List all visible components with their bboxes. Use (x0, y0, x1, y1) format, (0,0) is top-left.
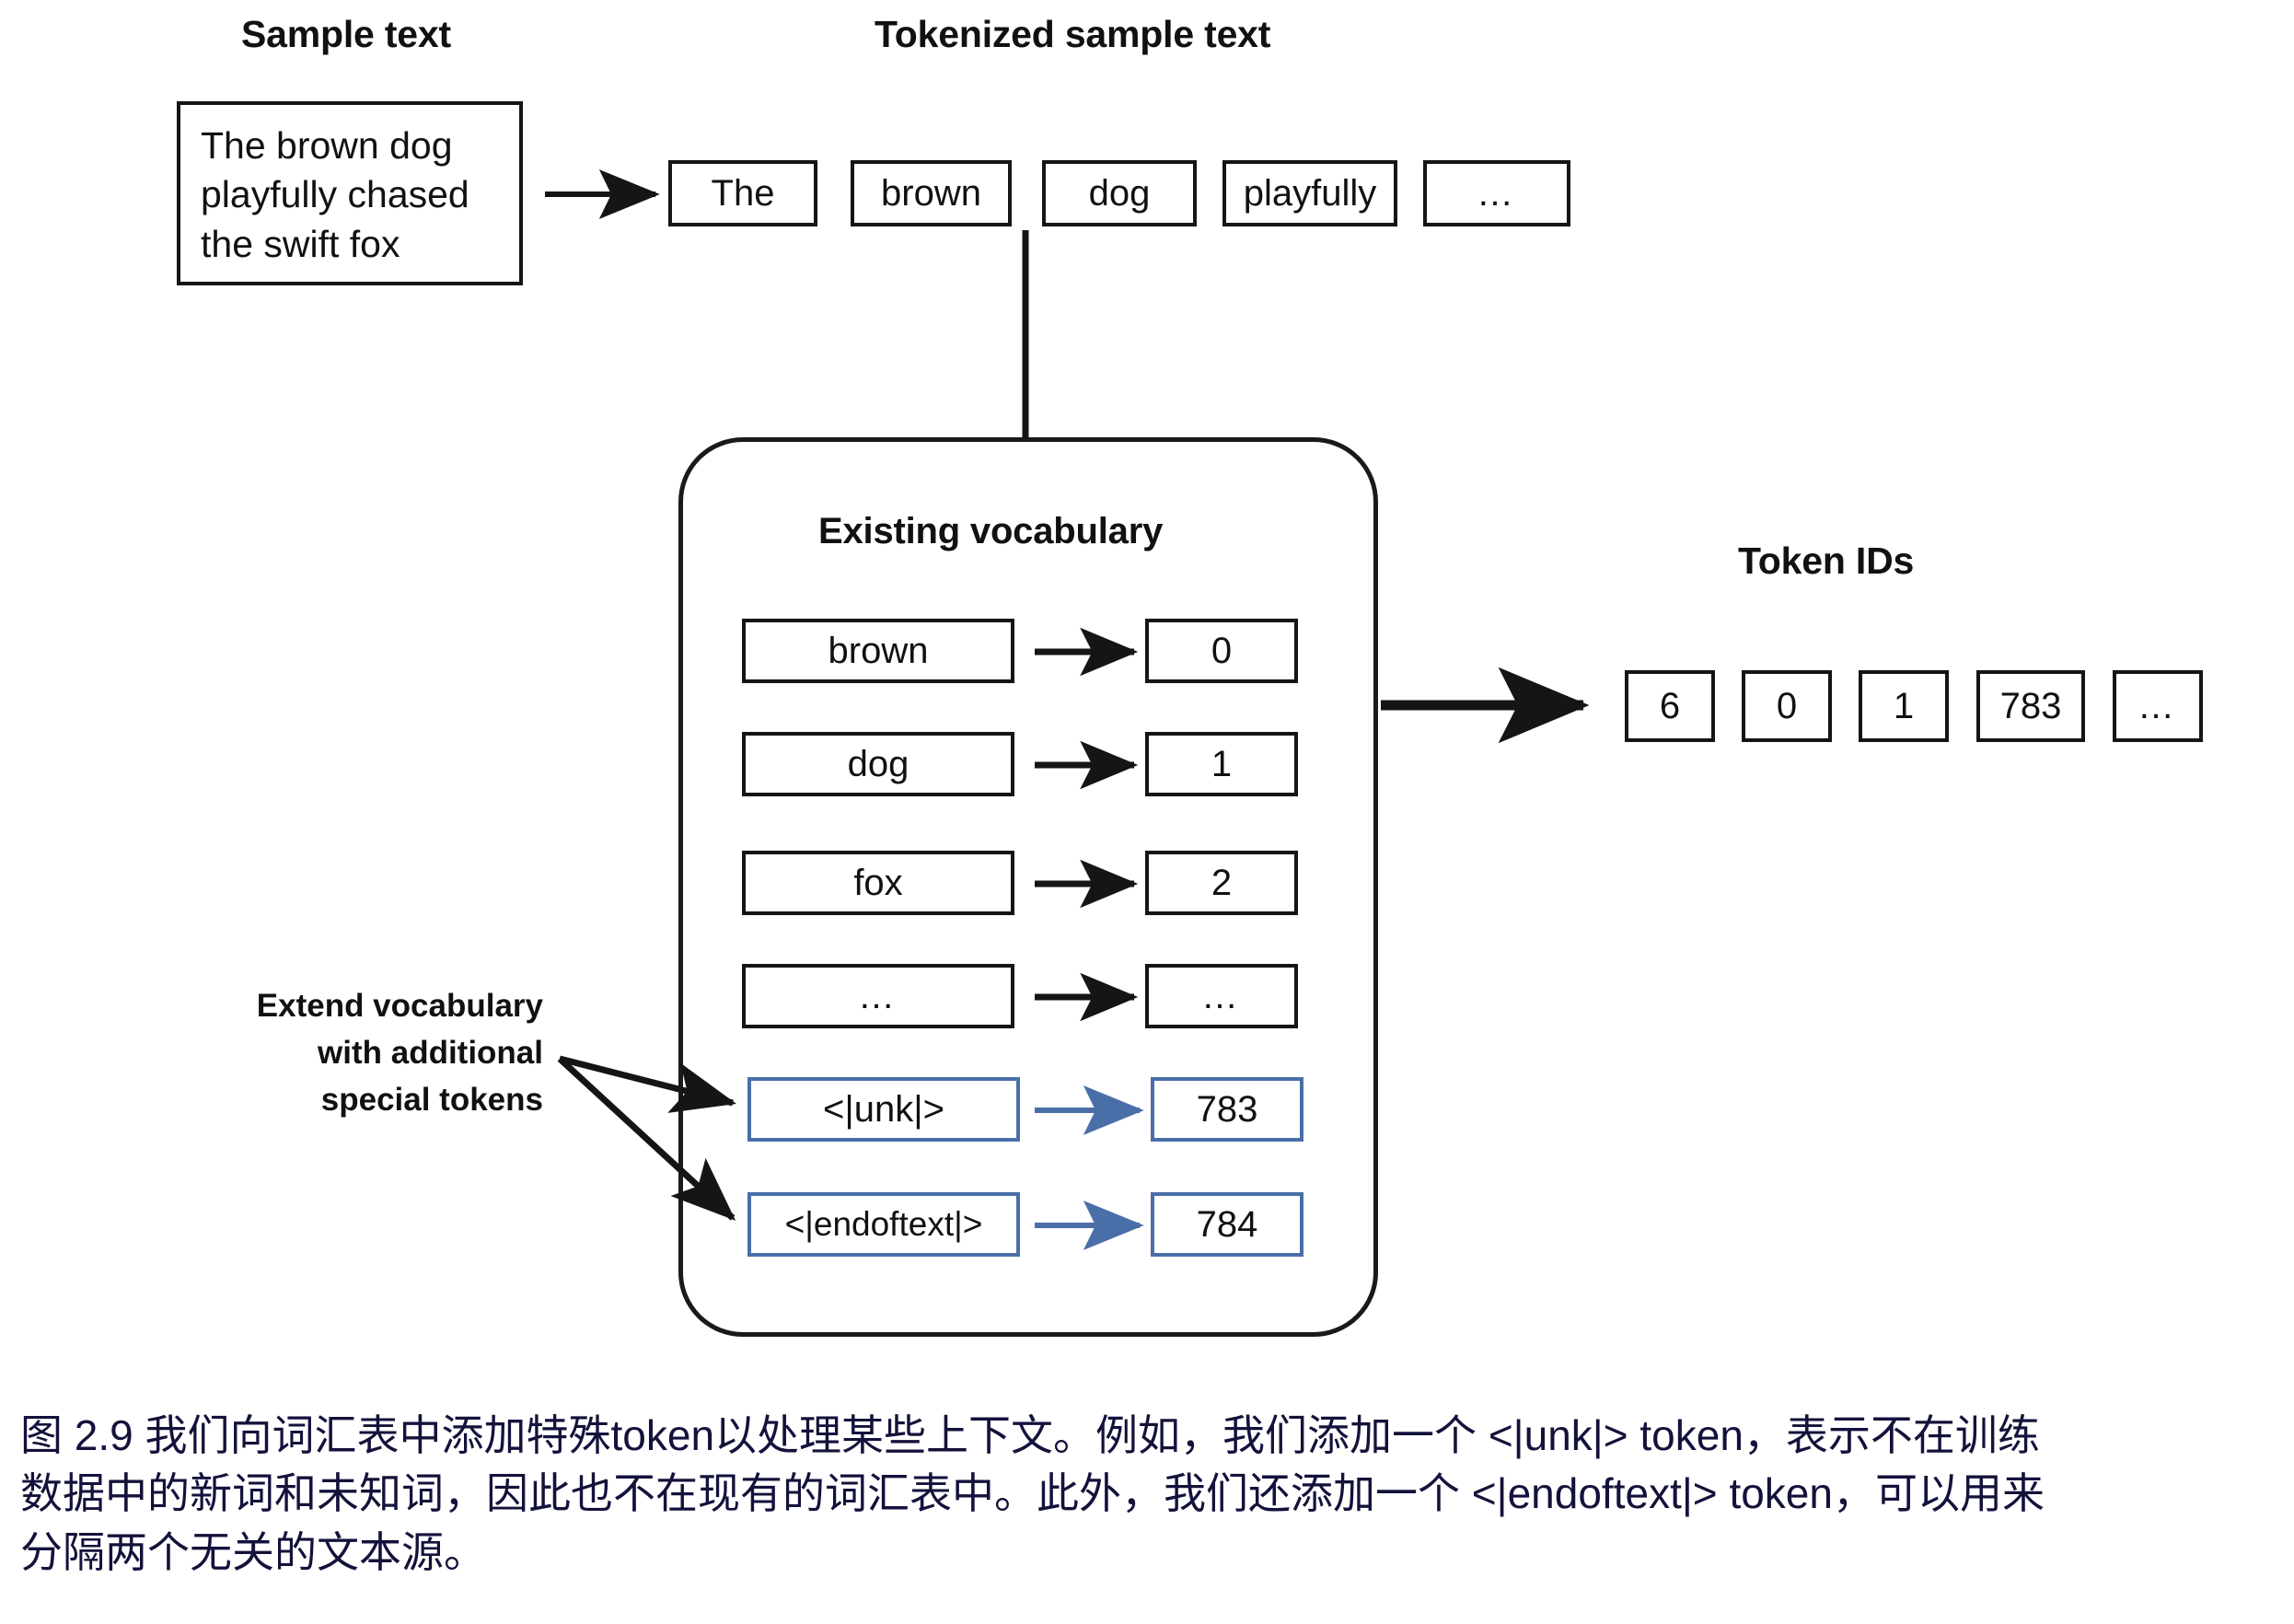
vocab-token-box-5-endoftext: <|endoftext|> (747, 1192, 1020, 1257)
annotation-extend-vocabulary: Extend vocabulary with additional specia… (221, 983, 543, 1123)
vocab-id-box-0: 0 (1145, 619, 1298, 683)
token-box-4: … (1423, 160, 1570, 226)
vocab-token-box-3: … (742, 964, 1014, 1028)
token-box-0: The (668, 160, 817, 226)
caption-line-3: 分隔两个无关的文本源。 (20, 1524, 2285, 1582)
token-id-box-4: … (2113, 670, 2203, 742)
vocab-token-box-1: dog (742, 732, 1014, 796)
vocab-id-box-5-endoftext: 784 (1151, 1192, 1303, 1257)
vocab-token-box-2: fox (742, 851, 1014, 915)
caption-line-2: 数据中的新词和未知词，因此也不在现有的词汇表中。此外，我们还添加一个 <|end… (20, 1465, 2285, 1523)
heading-sample-text: Sample text (241, 13, 451, 56)
heading-token-ids: Token IDs (1738, 539, 1914, 583)
vocab-id-box-1: 1 (1145, 732, 1298, 796)
vocab-id-box-3: … (1145, 964, 1298, 1028)
token-box-2: dog (1042, 160, 1197, 226)
token-box-3: playfully (1222, 160, 1397, 226)
heading-existing-vocabulary: Existing vocabulary (818, 511, 1163, 552)
token-id-box-1: 0 (1742, 670, 1832, 742)
vocab-id-box-2: 2 (1145, 851, 1298, 915)
token-id-box-3: 783 (1976, 670, 2085, 742)
vocab-token-box-4-unk: <|unk|> (747, 1077, 1020, 1142)
token-box-1: brown (851, 160, 1012, 226)
figure-caption: 图 2.9 我们向词汇表中添加特殊token以处理某些上下文。例如，我们添加一个… (20, 1407, 2285, 1582)
vocab-token-box-0: brown (742, 619, 1014, 683)
heading-tokenized-sample-text: Tokenized sample text (875, 13, 1270, 56)
figure-canvas: Sample text Tokenized sample text Token … (0, 0, 2294, 1624)
token-id-box-0: 6 (1625, 670, 1715, 742)
caption-line-1: 图 2.9 我们向词汇表中添加特殊token以处理某些上下文。例如，我们添加一个… (20, 1407, 2285, 1465)
sample-text-box: The brown dog playfully chased the swift… (177, 101, 523, 285)
token-id-box-2: 1 (1859, 670, 1949, 742)
vocab-id-box-4-unk: 783 (1151, 1077, 1303, 1142)
